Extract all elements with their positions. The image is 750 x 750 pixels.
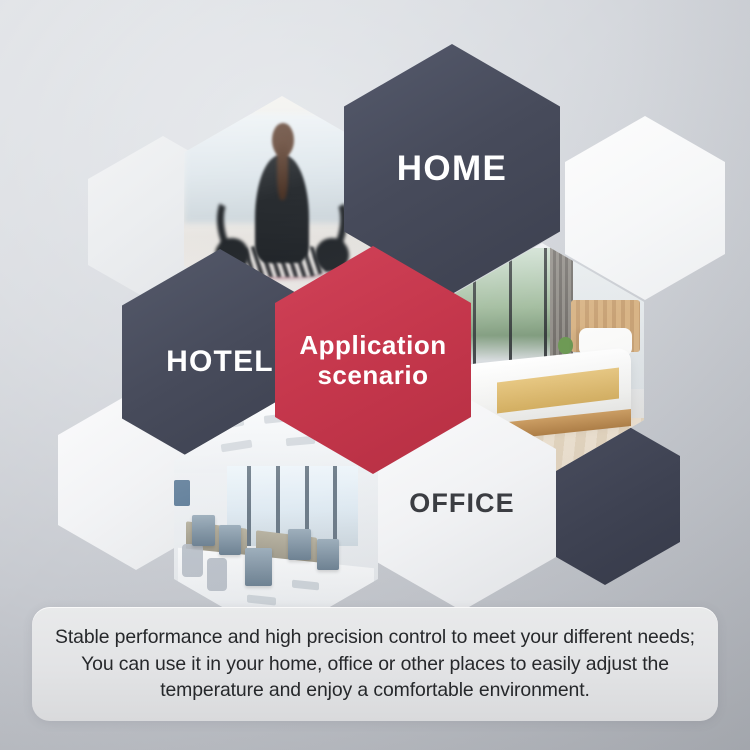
home-hexagon-label: HOME	[397, 150, 508, 187]
computer-monitor	[192, 515, 214, 546]
window-mullion	[333, 466, 337, 546]
computer-monitor	[317, 539, 339, 570]
hotel-hexagon-label: HOTEL	[166, 346, 274, 378]
application-scenario-line1: Application	[299, 330, 446, 360]
office-chair	[182, 544, 202, 577]
computer-monitor	[245, 548, 272, 586]
caption-card: Stable performance and high precision co…	[32, 607, 718, 721]
wall-display	[174, 480, 190, 506]
application-scenario-label: Application scenario	[299, 330, 446, 390]
computer-monitor	[219, 525, 241, 556]
caption-text: Stable performance and high precision co…	[48, 624, 702, 704]
bedroom-plant	[558, 337, 572, 354]
computer-monitor	[288, 529, 310, 560]
window-mullion	[247, 466, 251, 546]
yoga-hair	[277, 137, 288, 200]
office-chair	[207, 558, 227, 591]
application-scenario-line2: scenario	[317, 360, 428, 390]
application-scenario-infographic: HOME HOTEL Application scenario OFFICE S…	[0, 0, 750, 750]
